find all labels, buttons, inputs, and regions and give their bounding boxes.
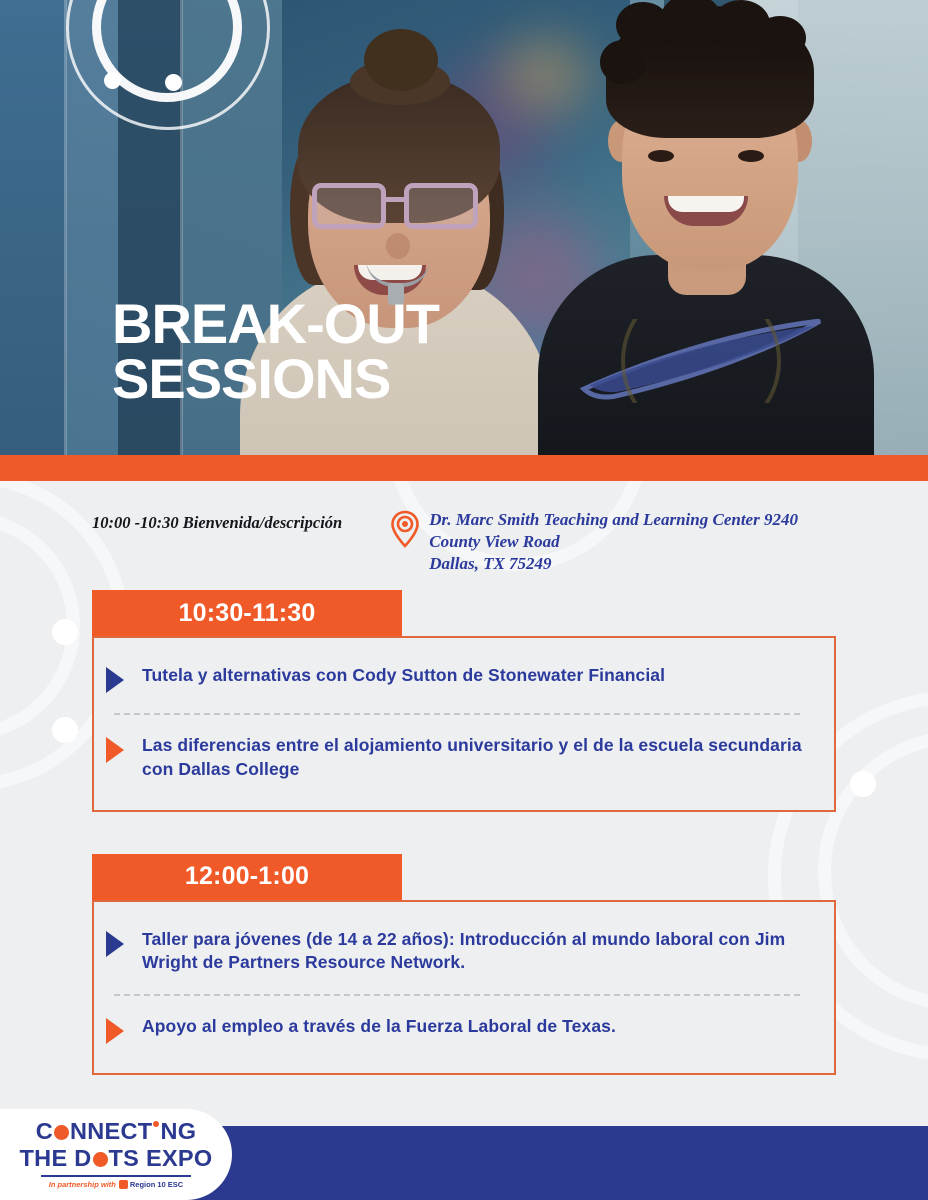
title-line-2: SESSIONS [112, 351, 439, 406]
address-line-3: Dallas, TX 75249 [429, 553, 798, 575]
decor-node [104, 72, 121, 89]
session-item-text: Las diferencias entre el alojamiento uni… [142, 734, 808, 781]
session-item-text: Taller para jóvenes (de 14 a 22 años): I… [142, 928, 808, 975]
decor-node [52, 619, 78, 645]
info-row: 10:00 -10:30 Bienvenida/descripción Dr. … [0, 481, 928, 574]
session-item[interactable]: Las diferencias entre el alojamiento uni… [104, 728, 808, 787]
region10-badge: Region 10 ESC [119, 1180, 183, 1189]
decor-node [52, 717, 78, 743]
orange-dot-icon [54, 1125, 69, 1140]
address-text: Dr. Marc Smith Teaching and Learning Cen… [429, 509, 798, 574]
session-item-text: Apoyo al empleo a través de la Fuerza La… [142, 1015, 616, 1039]
footer: CNNECTNG THE DTS EXPO In partnership wit… [0, 1109, 928, 1200]
partnership-line: In partnership with Region 10 ESC [20, 1180, 213, 1189]
decor-node [165, 74, 182, 91]
item-divider [114, 994, 800, 996]
brand-logo: CNNECTNG THE DTS EXPO In partnership wit… [20, 1120, 213, 1189]
triangle-bullet-orange-icon [104, 1017, 126, 1045]
shirt-logo [576, 319, 826, 403]
orange-dot-i-icon [153, 1121, 159, 1127]
item-divider [114, 713, 800, 715]
triangle-bullet-navy-icon [104, 930, 126, 958]
address-line-1: Dr. Marc Smith Teaching and Learning Cen… [429, 509, 798, 531]
session-item[interactable]: Tutela y alternativas con Cody Sutton de… [104, 658, 808, 700]
session-card: Tutela y alternativas con Cody Sutton de… [92, 636, 836, 811]
orange-divider [0, 455, 928, 481]
logo-text-b: NNECT [70, 1118, 152, 1144]
logo-rule [41, 1175, 191, 1177]
session-card: Taller para jóvenes (de 14 a 22 años): I… [92, 900, 836, 1075]
hero-banner: BREAK-OUT SESSIONS [0, 0, 928, 455]
logo-line-1: CNNECTNG [20, 1120, 213, 1144]
logo-line-2: THE DTS EXPO [20, 1147, 213, 1171]
welcome-text: 10:00 -10:30 Bienvenida/descripción [92, 509, 342, 574]
eyeglasses [312, 183, 488, 229]
session-item[interactable]: Taller para jóvenes (de 14 a 22 años): I… [104, 922, 808, 981]
session-time-chip: 12:00-1:00 [92, 854, 402, 900]
logo-text-a: C [36, 1118, 53, 1144]
page-title: BREAK-OUT SESSIONS [112, 296, 439, 407]
session-item-text: Tutela y alternativas con Cody Sutton de… [142, 664, 665, 688]
title-line-1: BREAK-OUT [112, 292, 439, 355]
logo-text-d: THE D [20, 1145, 92, 1171]
map-pin-icon [390, 510, 420, 548]
logo-text-c: NG [160, 1118, 196, 1144]
address-line-2: County View Road [429, 531, 798, 553]
logo-plate: CNNECTNG THE DTS EXPO In partnership wit… [0, 1109, 232, 1200]
glass-pane [0, 0, 66, 455]
decor-node [850, 771, 876, 797]
triangle-bullet-orange-icon [104, 736, 126, 764]
poster: BREAK-OUT SESSIONS 10:00 -10:30 Bienveni… [0, 0, 928, 1200]
session-block: 10:30-11:30 Tutela y alternativas con Co… [92, 590, 836, 811]
region10-mark-icon [119, 1180, 128, 1189]
logo-text-e: TS EXPO [109, 1145, 213, 1171]
triangle-bullet-navy-icon [104, 666, 126, 694]
address-block: Dr. Marc Smith Teaching and Learning Cen… [390, 509, 798, 574]
session-time-chip: 10:30-11:30 [92, 590, 402, 636]
orange-dot-icon [93, 1152, 108, 1167]
session-item[interactable]: Apoyo al empleo a través de la Fuerza La… [104, 1009, 808, 1051]
session-block: 12:00-1:00 Taller para jóvenes (de 14 a … [92, 854, 836, 1075]
person-teen [556, 0, 856, 455]
partner-name: Region 10 ESC [130, 1181, 183, 1189]
partnership-text: In partnership with [49, 1181, 116, 1189]
schedule-content: 10:00 -10:30 Bienvenida/descripción Dr. … [0, 481, 928, 1109]
